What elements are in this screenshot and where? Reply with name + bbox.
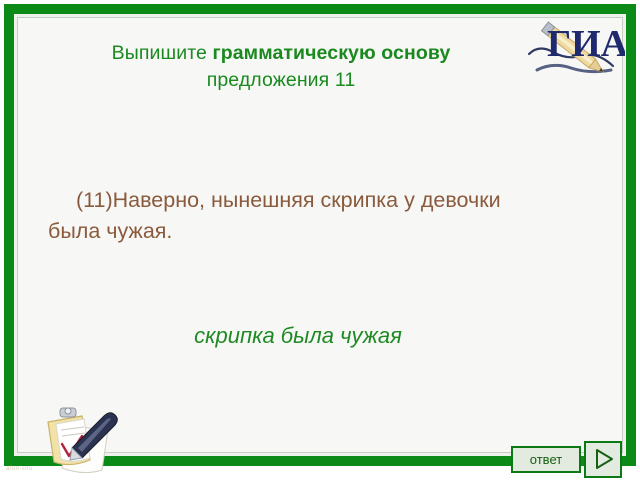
- next-arrow-icon[interactable]: [584, 441, 622, 478]
- sentence-text: (11)Наверно, нынешняя скрипка у девочки …: [48, 185, 528, 247]
- logo-text: ГИА: [547, 23, 625, 65]
- gia-logo: ГИА: [523, 14, 625, 84]
- slide: Выпишите грамматическую основу предложен…: [0, 0, 640, 480]
- answer-text: скрипка была чужая: [48, 321, 548, 351]
- title-bold: грамматическую основу: [212, 42, 450, 64]
- answer-button[interactable]: ответ: [511, 446, 581, 473]
- watermark-text: afon-snu: [6, 466, 33, 472]
- title-second-line: предложения 11: [207, 69, 356, 91]
- title-regular: Выпишите: [112, 42, 213, 64]
- page-title: Выпишите грамматическую основу предложен…: [46, 40, 516, 94]
- clipboard-pen-icon: [32, 400, 128, 480]
